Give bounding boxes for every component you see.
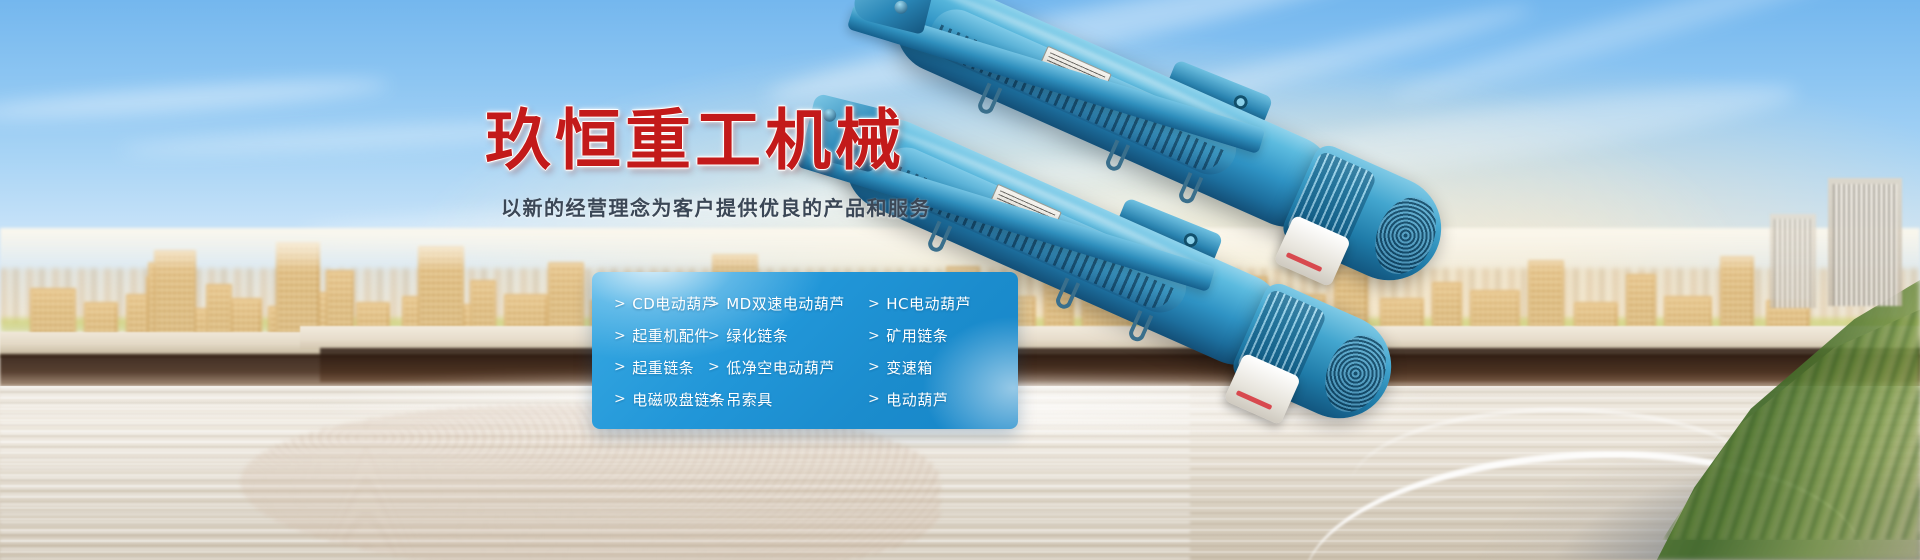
product-link-label: HC电动葫芦 <box>886 293 971 314</box>
product-link-label: 吊索具 <box>726 389 773 410</box>
chevron-right-icon: > <box>868 296 880 312</box>
product-link-electric-hoist[interactable]: > 电动葫芦 <box>846 389 1018 410</box>
product-link-magnetic-chuck-chain[interactable]: > 电磁吸盘链条 <box>592 389 704 410</box>
chevron-right-icon: > <box>708 296 720 312</box>
chevron-right-icon: > <box>614 296 626 312</box>
product-links-grid: > CD电动葫芦 > MD双速电动葫芦 > HC电动葫芦 > 起重机配件 > 绿… <box>592 272 1018 429</box>
product-link-greening-chain[interactable]: > 绿化链条 <box>704 325 846 346</box>
product-link-label: 变速箱 <box>886 357 933 378</box>
product-link-label: 起重链条 <box>632 357 694 378</box>
chevron-right-icon: > <box>614 328 626 344</box>
product-link-label: MD双速电动葫芦 <box>726 293 845 314</box>
product-link-lifting-chain[interactable]: > 起重链条 <box>592 357 704 378</box>
chevron-right-icon: > <box>614 391 626 407</box>
page-subtitle: 以新的经营理念为客户提供优良的产品和服务 <box>501 192 1045 221</box>
product-link-slings[interactable]: > 吊索具 <box>704 389 846 410</box>
product-link-hc-electric-hoist[interactable]: > HC电动葫芦 <box>846 293 1018 314</box>
hero-banner: 玖恒重工机械 以新的经营理念为客户提供优良的产品和服务 > CD电动葫芦 > M… <box>0 0 1920 560</box>
product-link-label: 绿化链条 <box>726 325 788 346</box>
page-title: 玖恒重工机械 <box>485 106 1045 176</box>
product-links-panel: > CD电动葫芦 > MD双速电动葫芦 > HC电动葫芦 > 起重机配件 > 绿… <box>592 272 1018 429</box>
product-link-label: 矿用链条 <box>886 325 948 346</box>
product-link-cd-electric-hoist[interactable]: > CD电动葫芦 <box>592 293 704 314</box>
skyscraper-right <box>1828 178 1902 306</box>
road-barrier-upper <box>300 326 1920 350</box>
product-link-mining-chain[interactable]: > 矿用链条 <box>846 325 1018 346</box>
product-link-label: 电动葫芦 <box>886 389 948 410</box>
chevron-right-icon: > <box>708 328 720 344</box>
chevron-right-icon: > <box>868 328 880 344</box>
chevron-right-icon: > <box>708 359 720 375</box>
product-link-label: 起重机配件 <box>632 325 710 346</box>
city-haze <box>0 228 1920 270</box>
product-link-low-headroom-hoist[interactable]: > 低净空电动葫芦 <box>704 357 846 378</box>
product-link-crane-parts[interactable]: > 起重机配件 <box>592 325 704 346</box>
chevron-right-icon: > <box>708 391 720 407</box>
product-link-gearbox[interactable]: > 变速箱 <box>846 357 1018 378</box>
product-link-label: 低净空电动葫芦 <box>726 357 835 378</box>
chevron-right-icon: > <box>614 359 626 375</box>
skyscraper-right-secondary <box>1770 214 1816 308</box>
chevron-right-icon: > <box>868 391 880 407</box>
chevron-right-icon: > <box>868 359 880 375</box>
banner-copy: 玖恒重工机械 以新的经营理念为客户提供优良的产品和服务 <box>485 106 1045 221</box>
product-link-md-dual-speed-hoist[interactable]: > MD双速电动葫芦 <box>704 293 846 314</box>
